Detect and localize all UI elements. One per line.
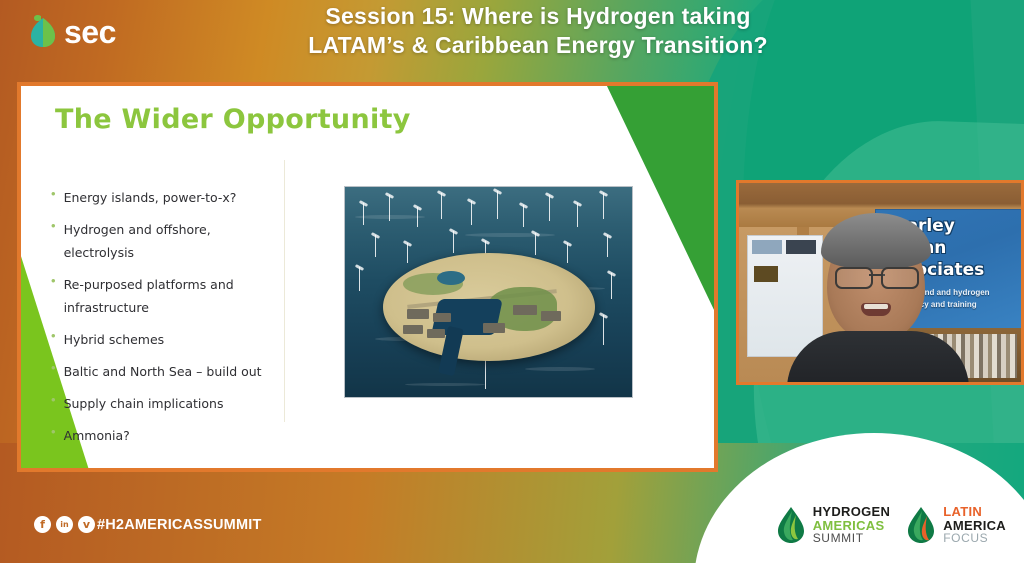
- brand-wordmark: sec: [64, 16, 116, 48]
- bullet-text: Baltic and North Sea – build out: [64, 360, 262, 383]
- bullet-text: Hybrid schemes: [64, 328, 165, 351]
- speaker-glasses: [835, 267, 919, 285]
- facebook-icon[interactable]: f: [34, 516, 51, 533]
- logo-line-2: AMERICAS: [813, 519, 891, 533]
- list-item: • Hybrid schemes: [51, 328, 276, 351]
- island-shape: [383, 253, 595, 361]
- bullet-text: Supply chain implications: [64, 392, 224, 415]
- webinar-screen: sec Session 15: Where is Hydrogen taking…: [0, 0, 1024, 563]
- sec-brand: sec: [26, 14, 116, 50]
- session-title: Session 15: Where is Hydrogen taking LAT…: [258, 2, 818, 60]
- bullet-marker-icon: •: [51, 218, 56, 234]
- slide-title: The Wider Opportunity: [55, 104, 411, 135]
- bullet-text: Ammonia?: [64, 424, 130, 447]
- list-item: • Ammonia?: [51, 424, 276, 447]
- social-links[interactable]: f in ᴠ: [34, 516, 95, 533]
- speaker-mouth: [861, 303, 891, 316]
- hydrogen-americas-summit-logo: HYDROGEN AMERICAS SUMMIT: [776, 505, 891, 545]
- bullet-marker-icon: •: [51, 186, 56, 202]
- speaker-video-tile[interactable]: Charley Rattan Associates offshore wind …: [736, 180, 1024, 385]
- list-item: • Hydrogen and offshore, electrolysis: [51, 218, 276, 264]
- hydrogen-drop-icon: [776, 506, 806, 544]
- slide-bullet-list: • Energy islands, power-to-x? • Hydrogen…: [51, 186, 276, 456]
- logo-line-3: FOCUS: [943, 532, 1006, 545]
- bullet-marker-icon: •: [51, 392, 56, 408]
- speaker-torso: [787, 331, 969, 385]
- list-item: • Energy islands, power-to-x?: [51, 186, 276, 209]
- bullet-marker-icon: •: [51, 328, 56, 344]
- bullet-marker-icon: •: [51, 273, 56, 289]
- list-item: • Baltic and North Sea – build out: [51, 360, 276, 383]
- session-title-line-2: LATAM’s & Caribbean Energy Transition?: [258, 31, 818, 60]
- wall-map: [747, 235, 823, 357]
- bullet-text: Hydrogen and offshore, electrolysis: [64, 218, 276, 264]
- list-item: • Re-purposed platforms and infrastructu…: [51, 273, 276, 319]
- logo-line-1: HYDROGEN: [813, 505, 891, 519]
- session-title-line-1: Session 15: Where is Hydrogen taking: [258, 2, 818, 31]
- energy-island-image: [344, 186, 633, 398]
- bullet-marker-icon: •: [51, 424, 56, 440]
- bullet-text: Energy islands, power-to-x?: [64, 186, 237, 209]
- presentation-slide: The Wider Opportunity • Energy islands, …: [17, 82, 718, 472]
- leaf-logo-icon: [26, 14, 60, 50]
- event-hashtag: #H2AMERICASSUMMIT: [97, 517, 262, 533]
- latam-drop-icon: [906, 506, 936, 544]
- twitter-icon[interactable]: ᴠ: [78, 516, 95, 533]
- logo-line-3: SUMMIT: [813, 532, 891, 545]
- list-item: • Supply chain implications: [51, 392, 276, 415]
- logo-line-2: AMERICA: [943, 519, 1006, 533]
- bullet-text: Re-purposed platforms and infrastructure: [64, 273, 276, 319]
- bullet-marker-icon: •: [51, 360, 56, 376]
- latin-america-focus-logo: LATIN AMERICA FOCUS: [906, 505, 1006, 545]
- slide-divider: [284, 160, 285, 422]
- linkedin-icon[interactable]: in: [56, 516, 73, 533]
- logo-line-1: LATIN: [943, 505, 1006, 519]
- sponsor-logos: HYDROGEN AMERICAS SUMMIT LATIN AMERICA F…: [776, 505, 1006, 545]
